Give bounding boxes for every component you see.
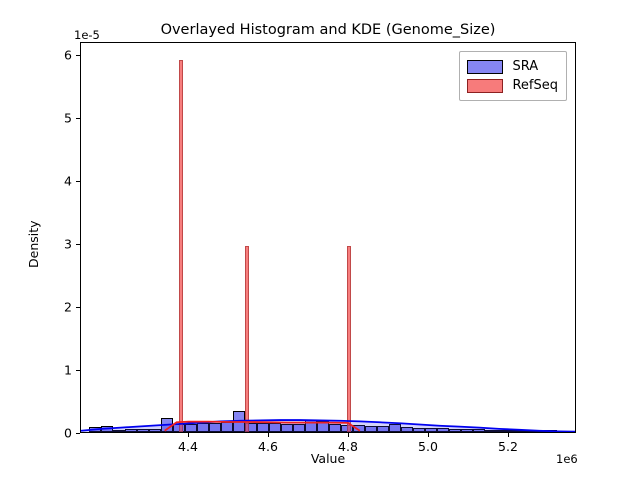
legend-swatch-refseq [467,79,503,93]
legend-label-sra: SRA [512,59,538,74]
x-tick-label: 5.0 [418,439,438,454]
x-tick-label: 4.6 [258,439,278,454]
matplotlib-figure: Overlayed Histogram and KDE (Genome_Size… [0,0,640,480]
x-tick-mark [268,433,269,437]
y-tick-mark [76,433,80,434]
x-tick-label: 5.2 [498,439,518,454]
legend-label-refseq: RefSeq [512,78,558,93]
y-tick-label: 6 [52,47,72,62]
y-tick-label: 5 [52,110,72,125]
y-tick-label: 4 [52,173,72,188]
y-axis-label: Density [26,220,41,268]
y-tick-label: 0 [52,426,72,441]
x-tick-mark [508,433,509,437]
y-axis-offset-text: 1e-5 [74,28,100,42]
x-tick-label: 4.4 [178,439,198,454]
x-tick-label: 4.8 [338,439,358,454]
plot-clip-region [81,43,575,432]
x-tick-mark [348,433,349,437]
x-tick-mark [188,433,189,437]
legend[interactable]: SRA RefSeq [459,51,567,101]
x-tick-mark [428,433,429,437]
legend-item-refseq[interactable]: RefSeq [467,76,558,95]
chart-title: Overlayed Histogram and KDE (Genome_Size… [80,22,576,38]
kde-curves [81,43,575,432]
legend-swatch-sra [467,60,503,74]
plot-axes: SRA RefSeq [80,42,576,433]
y-tick-label: 3 [52,236,72,251]
legend-item-sra[interactable]: SRA [467,57,558,76]
y-tick-label: 1 [52,362,72,377]
y-tick-label: 2 [52,299,72,314]
